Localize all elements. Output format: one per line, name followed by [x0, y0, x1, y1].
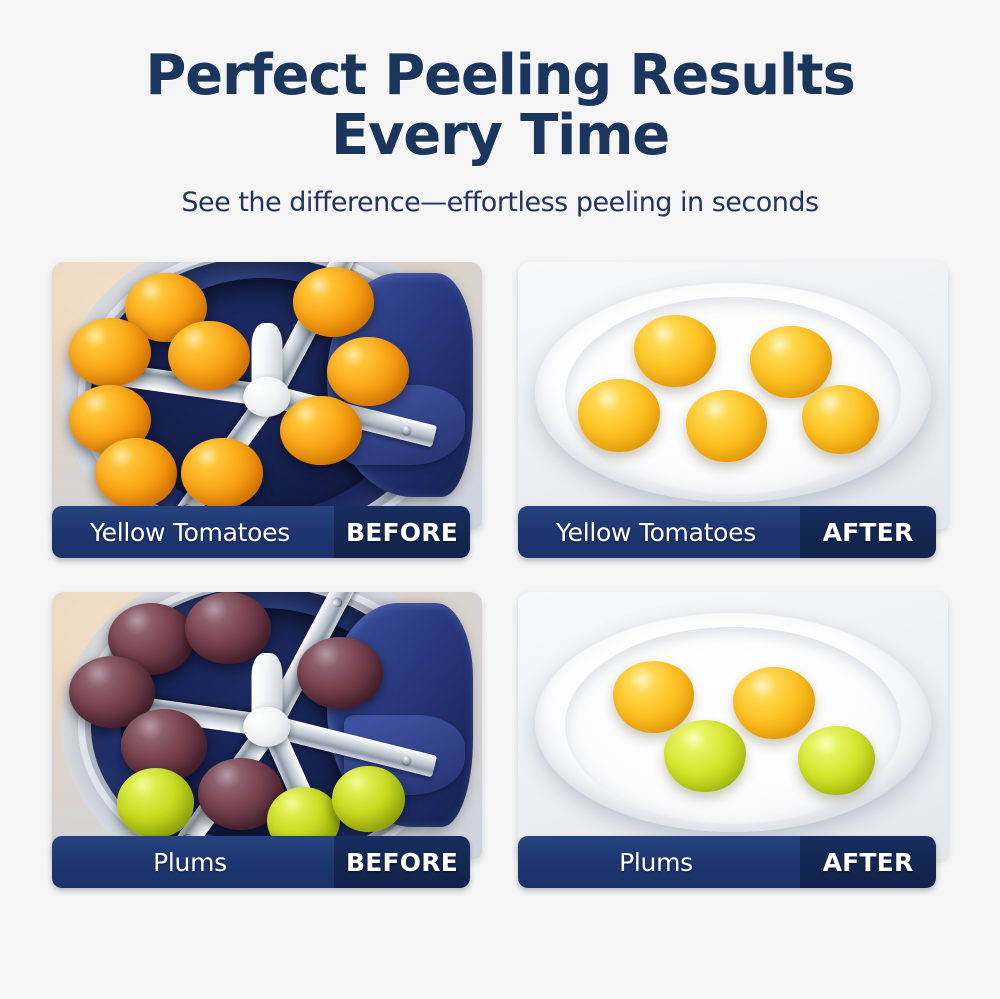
peeler-appliance-illustration: [52, 592, 482, 859]
panel-stage-badge: AFTER: [800, 506, 936, 558]
page-subtitle: See the difference—effortless peeling in…: [0, 187, 1000, 218]
comparison-panel[interactable]: Plums BEFORE: [52, 592, 482, 908]
fruit-tomato: [69, 318, 151, 387]
product-photo-tomatoes-after: [518, 262, 948, 529]
fruit-tomato: [280, 396, 362, 465]
comparison-panel[interactable]: Yellow Tomatoes BEFORE: [52, 262, 482, 578]
page-title: Perfect Peeling Results Every Time: [0, 46, 1000, 167]
fruit-plum: [297, 637, 383, 709]
fruit-tomato: [95, 438, 177, 507]
fruit-peeled-plum: [798, 726, 875, 795]
page-title-line-1: Perfect Peeling Results: [0, 46, 1000, 106]
fruit-tomato: [181, 438, 263, 507]
fruit-peeled-tomato: [750, 326, 832, 398]
panel-label-bar: Plums BEFORE: [52, 836, 470, 888]
peeler-center-hub: [243, 706, 290, 746]
page-header: Perfect Peeling Results Every Time See t…: [0, 0, 1000, 218]
fruit-peeled-plum: [733, 667, 815, 739]
product-photo-plums-before: [52, 592, 482, 859]
fruit-tomato: [327, 337, 409, 406]
peeler-appliance-illustration: [52, 262, 482, 529]
fruit-tomato: [168, 321, 250, 390]
panel-label-bar: Yellow Tomatoes BEFORE: [52, 506, 470, 558]
panel-fruit-label: Plums: [518, 836, 800, 888]
plate-illustration: [518, 262, 948, 529]
comparison-panel[interactable]: Plums AFTER: [518, 592, 948, 908]
panel-stage-badge: BEFORE: [334, 836, 470, 888]
panel-label-bar: Plums AFTER: [518, 836, 936, 888]
fruit-tomato: [293, 267, 375, 336]
fruit-green-plum: [332, 766, 405, 833]
panel-fruit-label: Yellow Tomatoes: [518, 506, 800, 558]
page-title-line-2: Every Time: [0, 106, 1000, 166]
panel-fruit-label: Plums: [52, 836, 334, 888]
fruit-peeled-tomato: [578, 379, 660, 451]
panel-label-bar: Yellow Tomatoes AFTER: [518, 506, 936, 558]
comparison-panel[interactable]: Yellow Tomatoes AFTER: [518, 262, 948, 578]
panel-stage-badge: AFTER: [800, 836, 936, 888]
fruit-plum: [185, 592, 271, 664]
peeler-center-hub: [243, 376, 290, 416]
product-photo-plums-after: [518, 592, 948, 859]
fruit-peeled-plum: [664, 720, 746, 792]
product-photo-tomatoes-before: [52, 262, 482, 529]
plate-illustration: [518, 592, 948, 859]
white-plate-well: [565, 627, 900, 825]
panel-stage-badge: BEFORE: [334, 506, 470, 558]
fruit-green-plum: [117, 768, 194, 837]
panel-fruit-label: Yellow Tomatoes: [52, 506, 334, 558]
comparison-grid: Yellow Tomatoes BEFORE Yellow Tomatoes A…: [52, 262, 948, 908]
